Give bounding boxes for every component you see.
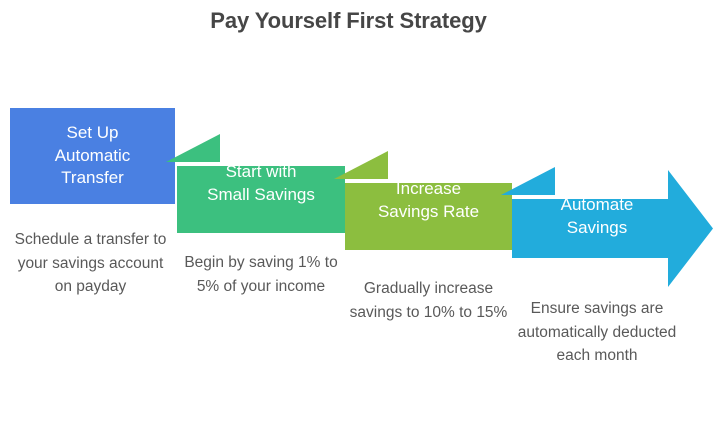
process-step-4[interactable]: Automate Savings — [498, 167, 727, 292]
step-3-caption: Gradually increase savings to 10% to 15% — [345, 277, 512, 324]
step-2-caption: Begin by saving 1% to 5% of your income — [177, 251, 345, 298]
step-4-tab — [501, 167, 555, 195]
step-4-caption: Ensure savings are automatically deducte… — [512, 297, 682, 368]
infographic-canvas: Pay Yourself First Strategy Set Up Autom… — [0, 0, 727, 440]
page-title: Pay Yourself First Strategy — [0, 8, 697, 34]
step-3-tab — [334, 151, 388, 179]
step-4-shape — [498, 167, 727, 292]
step-2-tab — [166, 134, 220, 162]
step-1-caption: Schedule a transfer to your savings acco… — [8, 228, 173, 299]
